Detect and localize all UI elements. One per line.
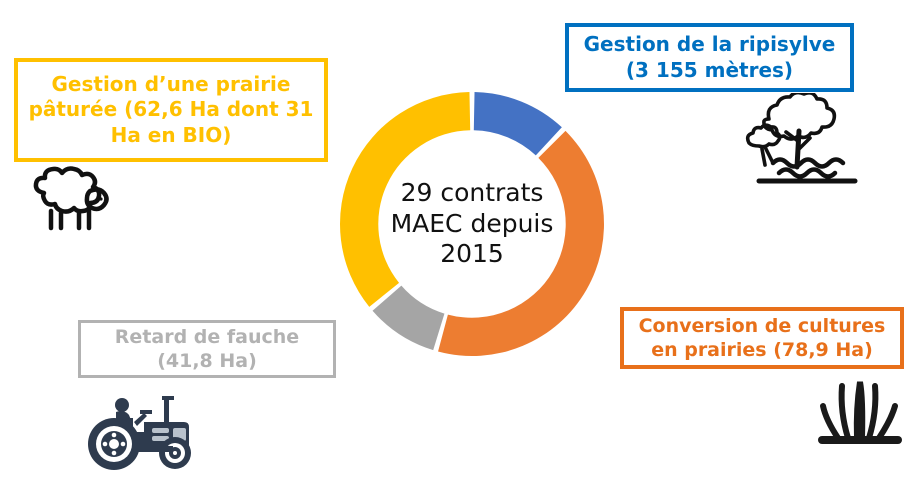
infographic-canvas: Gestion d’une prairie pâturée (62,6 Ha d… bbox=[0, 0, 922, 483]
callout-ripisylve-text: Gestion de la ripisylve (3 155 mètres) bbox=[577, 32, 842, 83]
callout-conversion-line2: en prairies (78,9 Ha) bbox=[651, 339, 873, 361]
sheep-icon bbox=[24, 163, 116, 235]
donut-slice-3[interactable] bbox=[340, 92, 470, 307]
tree-river-icon-svg bbox=[735, 93, 863, 185]
grass-icon-svg bbox=[808, 376, 912, 454]
donut-slice-0[interactable] bbox=[474, 92, 562, 155]
callout-ripisylve-line1: Gestion de la ripisylve bbox=[584, 32, 836, 56]
callout-fauche-line2: (41,8 Ha) bbox=[157, 350, 257, 372]
callout-prairie-paturee: Gestion d’une prairie pâturée (62,6 Ha d… bbox=[14, 58, 328, 162]
callout-prairie-line1: Gestion d’une prairie bbox=[52, 72, 291, 96]
callout-conversion-text: Conversion de cultures en prairies (78,9… bbox=[630, 314, 894, 363]
callout-prairie-line2: pâturée (62,6 Ha dont 31 bbox=[29, 97, 314, 121]
tractor-icon bbox=[78, 392, 202, 472]
callout-retard-fauche: Retard de fauche (41,8 Ha) bbox=[78, 320, 336, 378]
grass-icon bbox=[808, 376, 912, 454]
donut-chart-svg bbox=[338, 90, 606, 358]
donut-slice-1[interactable] bbox=[438, 131, 604, 356]
callout-conversion-cultures: Conversion de cultures en prairies (78,9… bbox=[620, 307, 904, 369]
callout-conversion-line1: Conversion de cultures bbox=[639, 315, 886, 337]
callout-ripisylve-line2: (3 155 mètres) bbox=[626, 58, 793, 82]
tractor-icon-svg bbox=[78, 392, 202, 472]
callout-prairie-line3: Ha en BIO) bbox=[111, 123, 232, 147]
sheep-icon-svg bbox=[24, 163, 116, 235]
callout-ripisylve: Gestion de la ripisylve (3 155 mètres) bbox=[565, 23, 854, 92]
donut-slices bbox=[340, 92, 604, 356]
donut-chart: 29 contrats MAEC depuis 2015 bbox=[338, 90, 606, 358]
tree-river-icon bbox=[735, 93, 863, 185]
callout-fauche-line1: Retard de fauche bbox=[115, 326, 299, 348]
callout-fauche-text: Retard de fauche (41,8 Ha) bbox=[87, 325, 327, 374]
callout-prairie-text: Gestion d’une prairie pâturée (62,6 Ha d… bbox=[26, 72, 316, 149]
